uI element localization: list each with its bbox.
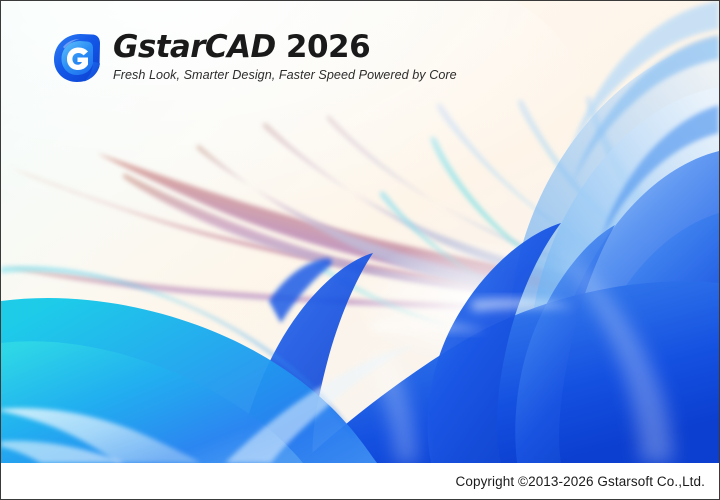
product-tagline: Fresh Look, Smarter Design, Faster Speed… bbox=[113, 68, 457, 82]
version-year bbox=[276, 29, 286, 65]
product-wordmark: GstarCAD 2026 bbox=[113, 31, 457, 64]
gstarcad-splash-screen: GstarCAD 2026 Fresh Look, Smarter Design… bbox=[0, 0, 720, 500]
brand-block: GstarCAD 2026 Fresh Look, Smarter Design… bbox=[49, 29, 457, 85]
splash-footer: Copyright ©2013-2026 Gstarsoft Co.,Ltd. bbox=[1, 463, 719, 499]
copyright-text: Copyright ©2013-2026 Gstarsoft Co.,Ltd. bbox=[456, 474, 719, 489]
product-name: GstarCAD bbox=[113, 29, 276, 65]
brand-text-group: GstarCAD 2026 Fresh Look, Smarter Design… bbox=[113, 29, 457, 82]
gstarcad-g-logo-icon bbox=[49, 31, 105, 85]
